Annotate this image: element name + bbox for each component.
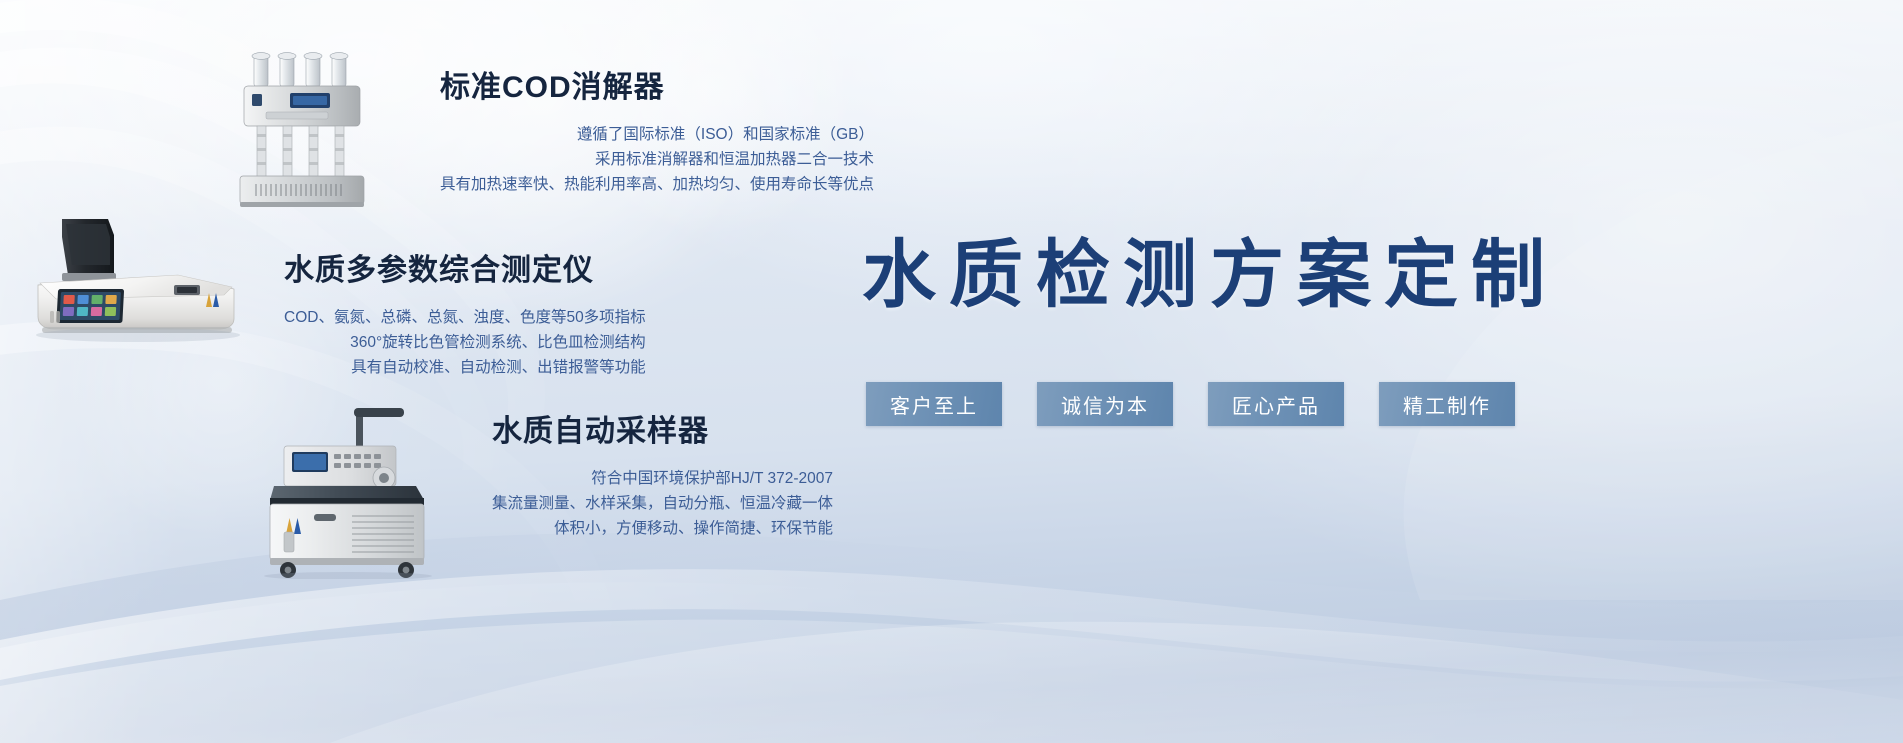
desc-line: 具有自动校准、自动检测、出错报警等功能 <box>284 355 646 380</box>
status-badge[interactable]: 客户至上 <box>866 382 1002 426</box>
desc-line: 符合中国环境保护部HJ/T 372-2007 <box>492 466 833 491</box>
desc-line: 遵循了国际标准（ISO）和国家标准（GB） <box>440 122 874 147</box>
multi-parameter-analyzer-icon <box>28 215 248 350</box>
badge-group: 客户至上 诚信为本 匠心产品 精工制作 <box>866 382 1515 426</box>
status-badge[interactable]: 精工制作 <box>1379 382 1515 426</box>
product-description: COD、氨氮、总磷、总氮、浊度、色度等50多项指标 360°旋转比色管检测系统、… <box>284 305 646 380</box>
desc-line: 采用标准消解器和恒温加热器二合一技术 <box>440 147 874 172</box>
water-quality-banner: 标准COD消解器 遵循了国际标准（ISO）和国家标准（GB） 采用标准消解器和恒… <box>0 0 1903 743</box>
desc-line: 具有加热速率快、热能利用率高、加热均匀、使用寿命长等优点 <box>440 172 874 197</box>
product-block-cod-digester: 标准COD消解器 遵循了国际标准（ISO）和国家标准（GB） 采用标准消解器和恒… <box>232 48 874 213</box>
product-description: 符合中国环境保护部HJ/T 372-2007 集流量测量、水样采集，自动分瓶、恒… <box>492 466 833 541</box>
page-title: 水质检测方案定制 <box>862 236 1862 314</box>
product-block-auto-sampler: 水质自动采样器 符合中国环境保护部HJ/T 372-2007 集流量测量、水样采… <box>248 404 833 569</box>
product-text-auto-sampler: 水质自动采样器 符合中国环境保护部HJ/T 372-2007 集流量测量、水样采… <box>492 404 833 541</box>
product-text-multi-parameter-analyzer: 水质多参数综合测定仪 COD、氨氮、总磷、总氮、浊度、色度等50多项指标 360… <box>284 215 646 380</box>
desc-line: 360°旋转比色管检测系统、比色皿检测结构 <box>284 330 646 355</box>
cod-digester-icon <box>232 48 382 213</box>
product-title: 标准COD消解器 <box>440 70 874 106</box>
desc-line: COD、氨氮、总磷、总氮、浊度、色度等50多项指标 <box>284 305 646 330</box>
product-title: 水质多参数综合测定仪 <box>284 253 646 289</box>
product-text-cod-digester: 标准COD消解器 遵循了国际标准（ISO）和国家标准（GB） 采用标准消解器和恒… <box>440 48 874 197</box>
desc-line: 体积小，方便移动、操作简捷、环保节能 <box>492 516 833 541</box>
desc-line: 集流量测量、水样采集，自动分瓶、恒温冷藏一体 <box>492 491 833 516</box>
auto-sampler-icon <box>248 404 448 569</box>
product-block-multi-parameter-analyzer: 水质多参数综合测定仪 COD、氨氮、总磷、总氮、浊度、色度等50多项指标 360… <box>28 215 646 380</box>
product-description: 遵循了国际标准（ISO）和国家标准（GB） 采用标准消解器和恒温加热器二合一技术… <box>440 122 874 197</box>
status-badge[interactable]: 匠心产品 <box>1208 382 1344 426</box>
status-badge[interactable]: 诚信为本 <box>1037 382 1173 426</box>
product-title: 水质自动采样器 <box>492 414 833 450</box>
